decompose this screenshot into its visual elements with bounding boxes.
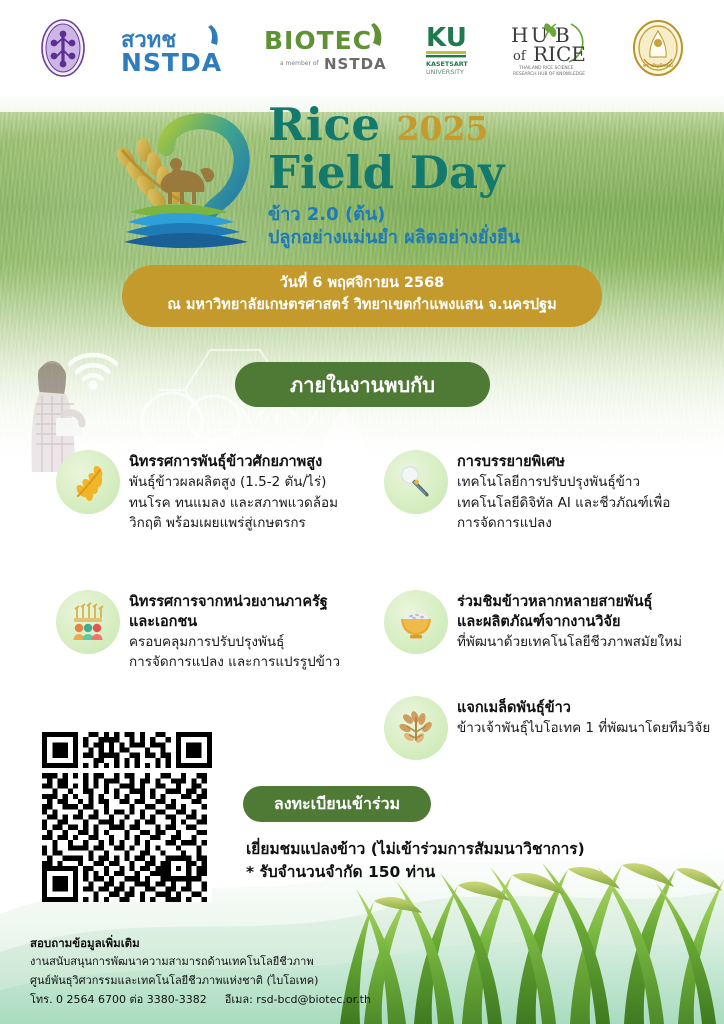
title-text-group: Rice 2025 Field Day ข้าว 2.0 (ต้น) ปลูกอ… — [268, 98, 520, 249]
feature-title: แจกเมล็ดพันธุ์ข้าว — [457, 698, 710, 718]
footer-org-line1: งานสนับสนุนการพัฒนาความสามารถด้านเทคโนโล… — [30, 953, 470, 972]
ku-logo: KU KASETSART UNIVERSITY — [422, 18, 478, 78]
hub-of-text: of — [513, 49, 527, 64]
feature-desc-line: การจัดการแปลง และการแปรรูปข้าว — [129, 653, 340, 673]
hub-sub2-text: RESEARCH HUB OF KNOWLEDGE — [513, 71, 585, 77]
registration-qr-code[interactable] — [42, 732, 212, 902]
feature-desc-line: เทคโนโลยีการปรับปรุงพันธุ์ข้าว — [457, 473, 670, 493]
exhibition-booth-icon — [56, 590, 120, 654]
nstda-en-text: NSTDA — [121, 48, 222, 77]
hub-sub1-text: THAILAND RICE SCIENCE — [518, 65, 574, 71]
capacity-note: * รับจำนวนจำกัด 150 ท่าน — [246, 861, 666, 884]
registration-notes: เยี่ยมชมแปลงข้าว (ไม่เข้าร่วมการสัมมนาวิ… — [246, 838, 666, 885]
feature-body: แจกเมล็ดพันธุ์ข้าว ข้าวเจ้าพันธุ์ไบโอเทค… — [457, 696, 710, 739]
gold-seal-logo: ตราสัญลักษณ์ — [632, 19, 684, 77]
feature-desc-line: ที่พัฒนาด้วยเทคโนโลยีชีวภาพสมัยใหม่ — [457, 633, 682, 653]
feature-desc-line: การจัดการแปลง — [457, 514, 670, 534]
feature-item: นิทรรศการจากหน่วยงานภาครัฐ และเอกชน ครอบ… — [56, 590, 376, 673]
feature-desc-line: ทนโรค ทนแมลง และสภาพแวดล้อม — [129, 494, 338, 514]
feature-body: นิทรรศการพันธุ์ข้าวศักยภาพสูง พันธุ์ข้าว… — [129, 450, 338, 534]
feature-title: นิทรรศการจากหน่วยงานภาครัฐ — [129, 592, 340, 612]
footer-phone: โทร. 0 2564 6700 ต่อ 3380-3382 — [30, 993, 207, 1006]
feature-item: ร่วมชิมข้าวหลากหลายสายพันธุ์ และผลิตภัณฑ… — [384, 590, 714, 654]
biotec-sub-text: NSTDA — [324, 55, 387, 73]
footer-contact-line: โทร. 0 2564 6700 ต่อ 3380-3382อีเมล: rsd… — [30, 991, 470, 1010]
title-field-day: Field Day — [268, 149, 520, 198]
ku-sub2-text: UNIVERSITY — [426, 68, 464, 76]
feature-title: และผลิตภัณฑ์จากงานวิจัย — [457, 612, 682, 632]
biotec-logo: BIOTEC a member of NSTDA — [262, 19, 394, 77]
feature-title: และเอกชน — [129, 612, 340, 632]
svg-text:ตราสัญลักษณ์: ตราสัญลักษณ์ — [643, 62, 673, 69]
feature-body: นิทรรศการจากหน่วยงานภาครัฐ และเอกชน ครอบ… — [129, 590, 340, 673]
kasetsart-seal-logo — [40, 18, 86, 78]
hub-rice-text: RICE — [533, 42, 586, 66]
footer-heading: สอบถามข้อมูลเพิ่มเติม — [30, 934, 470, 954]
register-button[interactable]: ลงทะเบียนเข้าร่วม — [243, 786, 431, 822]
rice-bowl-icon — [384, 590, 448, 654]
section-header-label: ภายในงานพบกับ — [290, 369, 435, 401]
wifi-signal-icon — [62, 342, 124, 392]
feature-item: นิทรรศการพันธุ์ข้าวศักยภาพสูง พันธุ์ข้าว… — [56, 450, 376, 534]
visit-note: เยี่ยมชมแปลงข้าว (ไม่เข้าร่วมการสัมมนาวิ… — [246, 838, 666, 861]
footer-org-line2: ศูนย์พันธุวิศวกรรมและเทคโนโลยีชีวภาพแห่ง… — [30, 972, 470, 991]
feature-desc-line: ครอบคลุมการปรับปรุงพันธุ์ — [129, 633, 340, 653]
feature-body: การบรรยายพิเศษ เทคโนโลยีการปรับปรุงพันธุ… — [457, 450, 670, 534]
rice-field-day-emblem — [104, 106, 264, 256]
feature-desc-line: วิกฤติ พร้อมเผยแพร่สู่เกษตรกร — [129, 514, 338, 534]
features-right-column: การบรรยายพิเศษ เทคโนโลยีการปรับปรุงพันธุ… — [384, 442, 714, 776]
biotec-en-text: BIOTEC — [264, 26, 372, 55]
nstda-logo: สวทช NSTDA — [115, 19, 233, 77]
contact-footer: สอบถามข้อมูลเพิ่มเติม งานสนับสนุนการพัฒน… — [30, 934, 470, 1010]
feature-item: การบรรยายพิเศษ เทคโนโลยีการปรับปรุงพันธุ… — [384, 450, 714, 534]
microphone-icon — [384, 450, 448, 514]
event-title-block: Rice 2025 Field Day ข้าว 2.0 (ต้น) ปลูกอ… — [104, 98, 664, 260]
poster-root: สวทช NSTDA BIOTEC a member of NSTDA KU K… — [0, 0, 724, 1024]
title-rice: Rice — [268, 102, 381, 147]
feature-title: การบรรยายพิเศษ — [457, 452, 670, 472]
feature-desc-line: พันธุ์ข้าวผลผลิตสูง (1.5-2 ตัน/ไร่) — [129, 473, 338, 493]
date-location-banner: วันที่ 6 พฤศจิกายน 2568 ณ มหาวิทยาลัยเกษ… — [122, 265, 602, 327]
feature-title: นิทรรศการพันธุ์ข้าวศักยภาพสูง — [129, 452, 338, 472]
event-location: ณ มหาวิทยาลัยเกษตรศาสตร์ วิทยาเขตกำแพงแส… — [140, 295, 584, 317]
footer-email: อีเมล: rsd-bcd@biotec.or.th — [225, 993, 371, 1006]
title-thai-line1: ข้าว 2.0 (ต้น) — [268, 204, 520, 227]
biotec-sub-pre-text: a member of — [280, 60, 320, 67]
title-thai-line2: ปลูกอย่างแม่นยำ ผลิตอย่างยั่งยืน — [268, 226, 520, 249]
ku-sub1-text: KASETSART — [426, 60, 468, 68]
feature-desc-line: ข้าวเจ้าพันธุ์ไบโอเทค 1 ที่พัฒนาโดยทีมวิ… — [457, 719, 710, 739]
hub-of-rice-logo: H U B of RICE THAILAND RICE SCIENCE RESE… — [507, 18, 603, 78]
rice-seed-icon — [384, 696, 448, 760]
wheat-ear-icon — [56, 450, 120, 514]
features-left-column: นิทรรศการพันธุ์ข้าวศักยภาพสูง พันธุ์ข้าว… — [56, 442, 376, 689]
register-button-label: ลงทะเบียนเข้าร่วม — [274, 792, 400, 817]
feature-desc-line: เทคโนโลยีดิจิทัล AI และชีวภัณฑ์เพื่อ — [457, 494, 670, 514]
hub-h-text: H — [511, 23, 528, 47]
feature-body: ร่วมชิมข้าวหลากหลายสายพันธุ์ และผลิตภัณฑ… — [457, 590, 682, 653]
feature-item: แจกเมล็ดพันธุ์ข้าว ข้าวเจ้าพันธุ์ไบโอเทค… — [384, 696, 714, 760]
title-year: 2025 — [397, 112, 489, 145]
event-date: วันที่ 6 พฤศจิกายน 2568 — [140, 273, 584, 295]
partner-logo-bar: สวทช NSTDA BIOTEC a member of NSTDA KU K… — [0, 0, 724, 96]
feature-title: ร่วมชิมข้าวหลากหลายสายพันธุ์ — [457, 592, 682, 612]
ku-mark-text: KU — [426, 23, 467, 53]
section-header-pill: ภายในงานพบกับ — [235, 362, 490, 407]
